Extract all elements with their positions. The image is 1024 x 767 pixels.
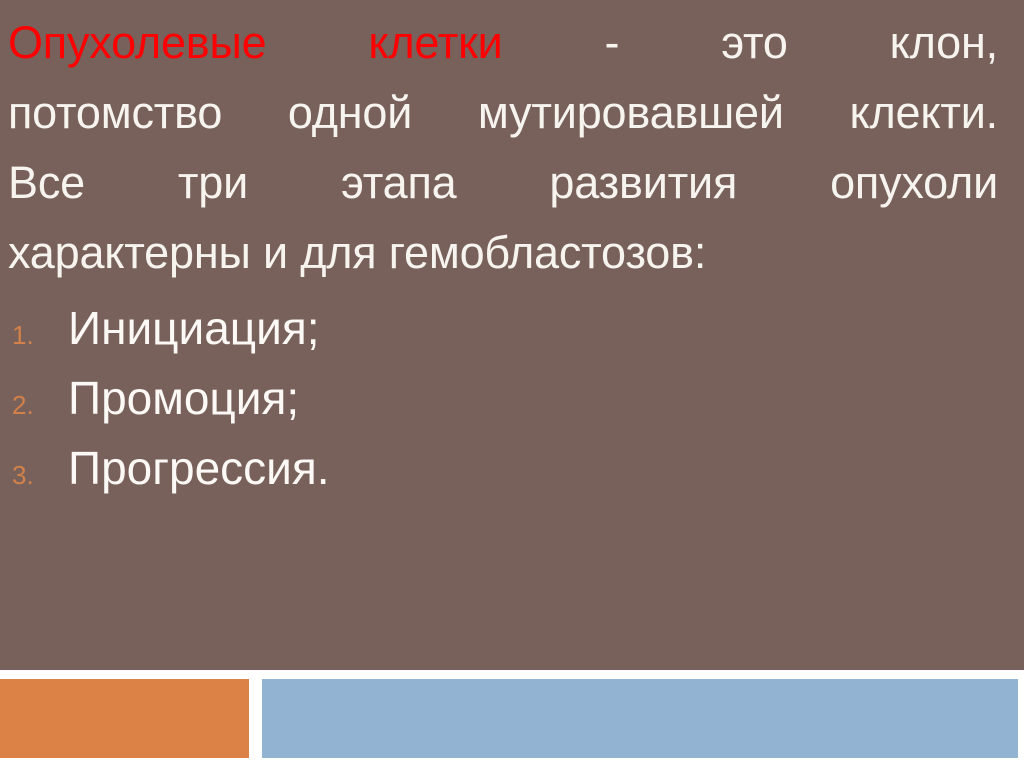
paragraph-word: клон, (890, 8, 998, 78)
paragraph-word: это (721, 8, 788, 78)
paragraph-word: этапа (341, 148, 457, 218)
paragraph-word: развития (549, 148, 737, 218)
list-marker: 1. (8, 300, 68, 370)
footer-accent-orange (0, 679, 249, 758)
list-marker: 3. (8, 440, 68, 510)
numbered-list: 1. Инициация; 2. Промоция; 3. Прогрессия… (8, 293, 708, 503)
paragraph-word: характерны (8, 218, 251, 288)
paragraph-word: клекти. (849, 78, 998, 148)
paragraph-line-2: потомство одной мутировавшей клекти. (8, 78, 998, 148)
paragraph-word: три (178, 148, 248, 218)
paragraph-word: опухоли (830, 148, 998, 218)
list-item: 3. Прогрессия. (8, 433, 708, 503)
paragraph-word: - (605, 8, 620, 78)
list-item: 1. Инициация; (8, 293, 708, 363)
paragraph-word: для (300, 218, 376, 288)
paragraph-word: одной (288, 78, 412, 148)
paragraph-line-3: Все три этапа развития опухоли (8, 148, 998, 218)
content-panel: Опухолевые клетки - это клон, потомство … (0, 0, 1024, 670)
list-item-label: Прогрессия. (68, 433, 330, 503)
paragraph-word: гемобластозов: (389, 218, 706, 288)
highlight-word-1: Опухолевые (8, 8, 266, 78)
footer-accent-blue (262, 679, 1018, 758)
paragraph-line-4: характерны и для гемобластозов: (8, 218, 998, 288)
paragraph-line-1: Опухолевые клетки - это клон, (8, 8, 998, 78)
slide: Опухолевые клетки - это клон, потомство … (0, 0, 1024, 767)
list-item-label: Промоция; (68, 363, 299, 433)
paragraph-word: потомство (8, 78, 222, 148)
body-paragraph: Опухолевые клетки - это клон, потомство … (8, 8, 998, 288)
list-item-label: Инициация; (68, 293, 320, 363)
paragraph-word: и (263, 218, 288, 288)
highlight-word-2: клетки (368, 8, 502, 78)
paragraph-word: Все (8, 148, 85, 218)
list-marker: 2. (8, 370, 68, 440)
list-item: 2. Промоция; (8, 363, 708, 433)
paragraph-word: мутировавшей (478, 78, 784, 148)
